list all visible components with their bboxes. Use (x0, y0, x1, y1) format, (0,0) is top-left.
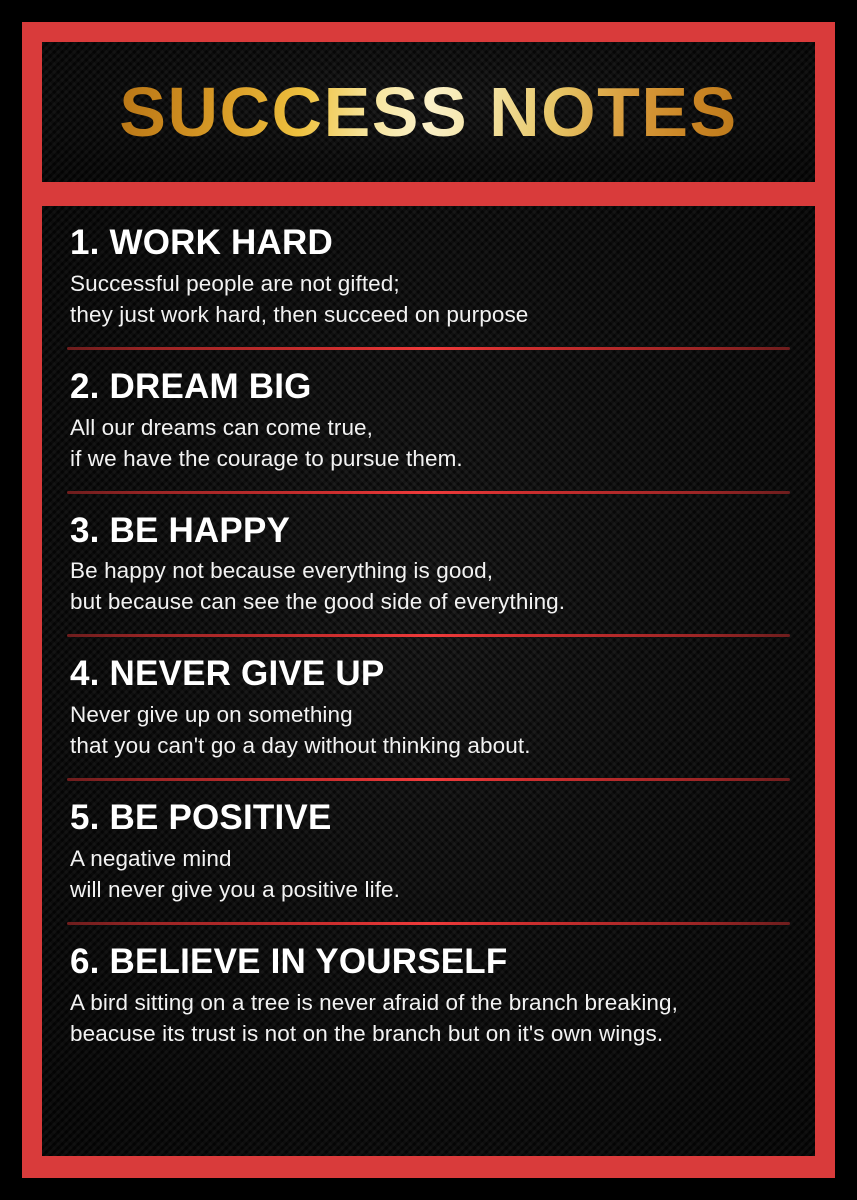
note-body-line: but because can see the good side of eve… (70, 586, 787, 617)
list-item: 6. BELIEVE IN YOURSELF A bird sitting on… (42, 943, 815, 1049)
note-body-line: All our dreams can come true, (70, 412, 787, 443)
note-heading: 1. WORK HARD (70, 224, 787, 262)
note-heading: 4. NEVER GIVE UP (70, 655, 787, 693)
section-divider (67, 778, 790, 781)
note-body-line: Never give up on something (70, 699, 787, 730)
notes-list-panel: 1. WORK HARD Successful people are not g… (42, 206, 815, 1156)
list-item: 1. WORK HARD Successful people are not g… (42, 224, 815, 330)
success-notes-poster: SUCCESS NOTES 1. WORK HARD Successful pe… (0, 0, 857, 1200)
note-body-line: Successful people are not gifted; (70, 268, 787, 299)
section-divider (67, 347, 790, 350)
note-body-line: will never give you a positive life. (70, 874, 787, 905)
note-heading: 2. DREAM BIG (70, 368, 787, 406)
list-item: 2. DREAM BIG All our dreams can come tru… (42, 368, 815, 474)
note-body-line: A bird sitting on a tree is never afraid… (70, 987, 787, 1018)
note-heading: 5. BE POSITIVE (70, 799, 787, 837)
note-body: Successful people are not gifted; they j… (70, 268, 787, 330)
note-body-line: A negative mind (70, 843, 787, 874)
page-title: SUCCESS NOTES (119, 77, 738, 147)
list-item: 4. NEVER GIVE UP Never give up on someth… (42, 655, 815, 761)
note-body: Be happy not because everything is good,… (70, 555, 787, 617)
note-body: Never give up on something that you can'… (70, 699, 787, 761)
section-divider (67, 634, 790, 637)
note-body-line: they just work hard, then succeed on pur… (70, 299, 787, 330)
note-heading: 6. BELIEVE IN YOURSELF (70, 943, 787, 981)
note-body-line: that you can't go a day without thinking… (70, 730, 787, 761)
section-divider (67, 491, 790, 494)
note-body: All our dreams can come true, if we have… (70, 412, 787, 474)
list-item: 3. BE HAPPY Be happy not because everyth… (42, 512, 815, 618)
note-body: A negative mind will never give you a po… (70, 843, 787, 905)
note-body-line: if we have the courage to pursue them. (70, 443, 787, 474)
note-body-line: beacuse its trust is not on the branch b… (70, 1018, 787, 1049)
section-divider (67, 922, 790, 925)
note-heading: 3. BE HAPPY (70, 512, 787, 550)
title-panel: SUCCESS NOTES (42, 42, 815, 182)
note-body: A bird sitting on a tree is never afraid… (70, 987, 787, 1049)
note-body-line: Be happy not because everything is good, (70, 555, 787, 586)
list-item: 5. BE POSITIVE A negative mind will neve… (42, 799, 815, 905)
